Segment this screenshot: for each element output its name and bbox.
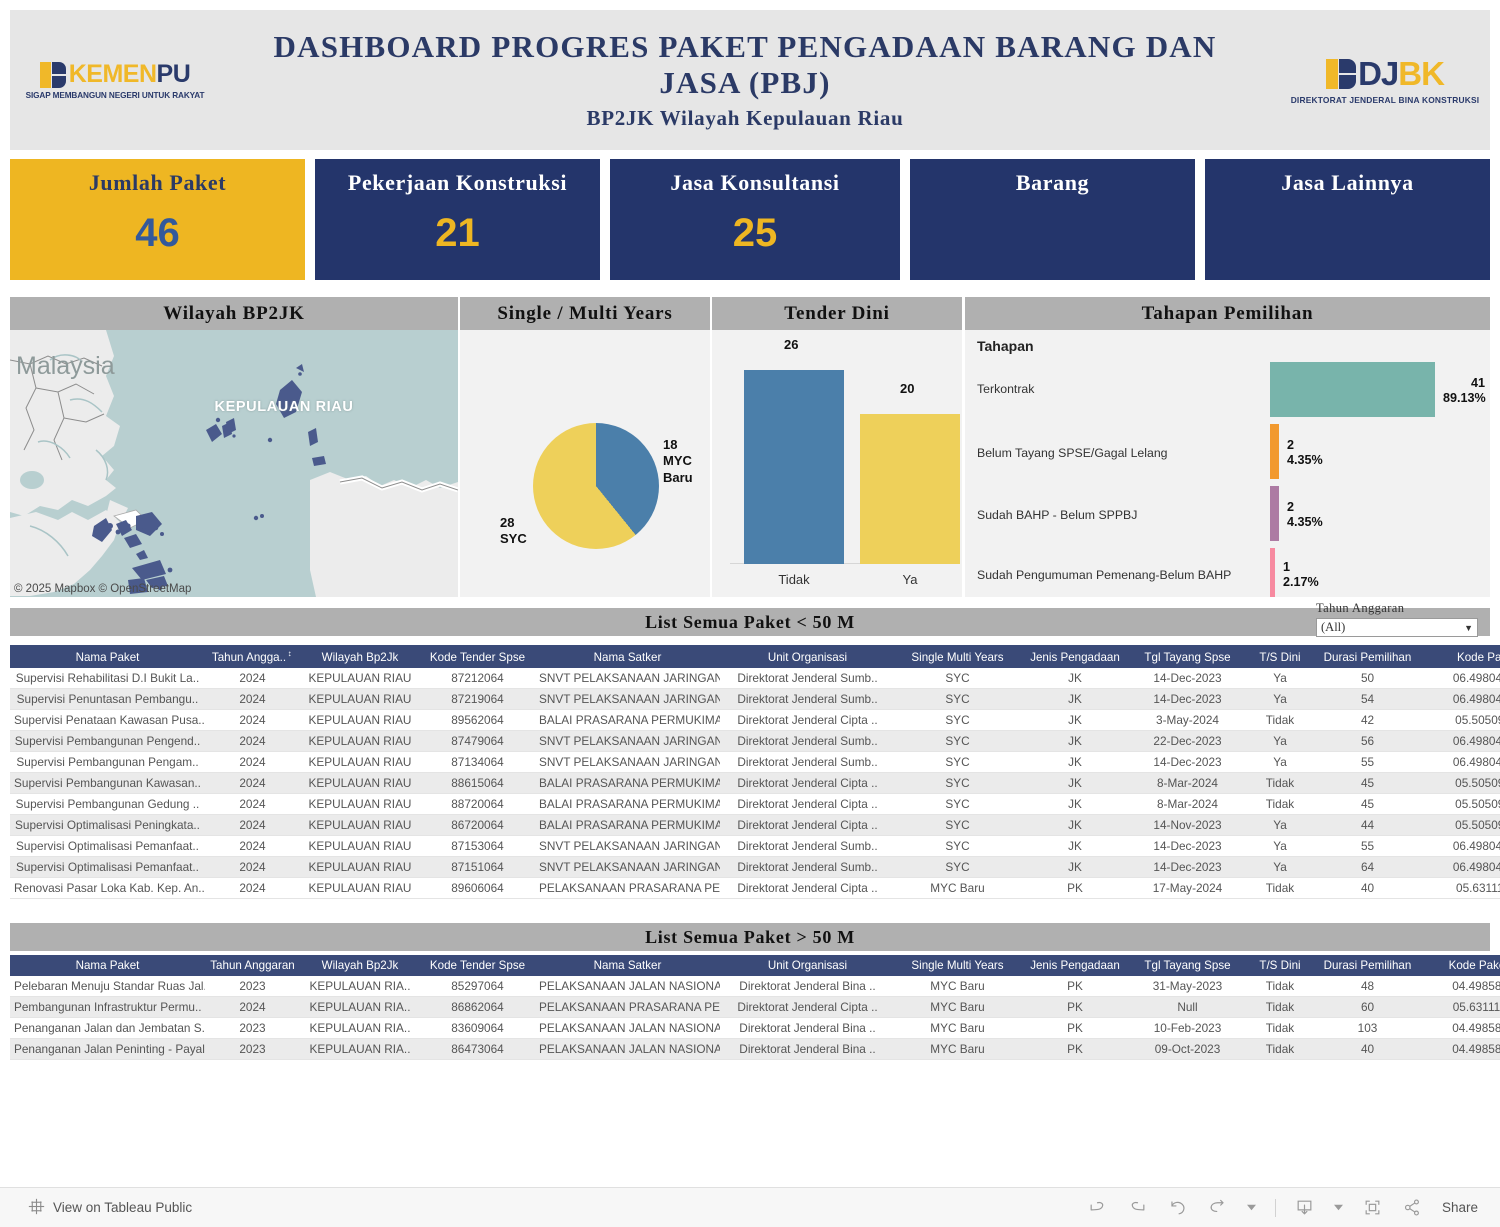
kpi-card-jumlah-paket[interactable]: Jumlah Paket 46 <box>10 159 305 280</box>
tahapan-bar[interactable] <box>1270 424 1279 479</box>
table-cell[interactable]: SYC <box>895 751 1020 772</box>
kpi-label: Pekerjaan Konstruksi <box>348 170 567 196</box>
toolbar-divider <box>1275 1199 1276 1217</box>
table-cell[interactable]: 05.505097.IA.4971 <box>1420 793 1500 814</box>
table-cell[interactable]: 10-Feb-2023 <box>1130 1018 1245 1039</box>
panel-body-map[interactable]: Malaysia KEPULAUAN RIAU © 2025 Mapbox © … <box>10 330 458 597</box>
table-cell[interactable]: MYC Baru <box>895 997 1020 1018</box>
table-cell[interactable]: KEPULAUAN RIAU <box>300 751 420 772</box>
table-cell[interactable]: SYC <box>895 668 1020 689</box>
table-cell[interactable]: 40 <box>1315 877 1420 898</box>
table-cell[interactable]: KEPULAUAN RIAU <box>300 688 420 709</box>
table-cell[interactable]: 2024 <box>205 709 300 730</box>
table-cell[interactable]: BALAI PRASARANA PERMUKIMA.. <box>535 709 720 730</box>
table-cell[interactable]: SNVT PELAKSANAAN JARINGAN .. <box>535 856 720 877</box>
table-cell[interactable]: JK <box>1020 688 1130 709</box>
kemenpu-tagline: SIGAP MEMBANGUN NEGERI UNTUK RAKYAT <box>26 91 205 100</box>
table-row[interactable]: Supervisi Pembangunan Pengend..2024KEPUL… <box>10 730 1500 751</box>
table-cell[interactable]: 86473064 <box>420 1039 535 1060</box>
table-cell[interactable]: 87134064 <box>420 751 535 772</box>
map-country-label: Malaysia <box>16 352 115 381</box>
djbk-word-a: DJ <box>1358 55 1398 92</box>
table-cell[interactable]: BALAI PRASARANA PERMUKIMA.. <box>535 793 720 814</box>
djbk-mark-icon <box>1326 59 1356 89</box>
table-cell[interactable]: 05.631115.IA.4971 <box>1420 877 1500 898</box>
table-cell[interactable]: PELAKSANAAN PRASARANA PER.. <box>535 997 720 1018</box>
filter-label: Tahun Anggaran <box>1316 601 1478 616</box>
djbk-tagline: DIREKTORAT JENDERAL BINA KONSTRUKSI <box>1291 95 1480 105</box>
table-cell[interactable]: Direktorat Jenderal Cipta .. <box>720 772 895 793</box>
table-cell[interactable]: Ya <box>1245 814 1315 835</box>
table-cell[interactable]: PK <box>1020 877 1130 898</box>
table-cell[interactable]: Supervisi Pembangunan Kawasan.. <box>10 772 205 793</box>
tahapan-bar[interactable] <box>1270 548 1275 597</box>
panel-header-map: Wilayah BP2JK <box>10 297 458 330</box>
table-cell[interactable]: 2024 <box>205 668 300 689</box>
table-cell[interactable]: Ya <box>1245 751 1315 772</box>
table-cell[interactable]: 87151064 <box>420 856 535 877</box>
table-cell[interactable]: Supervisi Penataan Kawasan Pusa.. <box>10 709 205 730</box>
kpi-card-pekerjaan-konstruksi[interactable]: Pekerjaan Konstruksi 21 <box>315 159 600 280</box>
table-cell[interactable]: Tidak <box>1245 1039 1315 1060</box>
table-cell[interactable]: BALAI PRASARANA PERMUKIMA.. <box>535 772 720 793</box>
table-column-header[interactable]: Nama Paket <box>10 955 205 976</box>
table-row[interactable]: Supervisi Optimalisasi Peningkata..2024K… <box>10 814 1500 835</box>
table-cell[interactable]: JK <box>1020 814 1130 835</box>
sort-indicator-icon[interactable]: ↕ <box>286 649 293 658</box>
table-cell[interactable]: 2023 <box>205 1039 300 1060</box>
table-cell[interactable]: SNVT PELAKSANAAN JARINGAN .. <box>535 835 720 856</box>
table-column-header[interactable]: Tahun Angga..↕ <box>205 645 300 668</box>
table-column-header[interactable]: Tahun Anggaran <box>205 955 300 976</box>
table-cell[interactable]: Direktorat Jenderal Cipta .. <box>720 877 895 898</box>
kemenpu-word-b: PU <box>157 60 191 88</box>
table-cell[interactable]: 22-Dec-2023 <box>1130 730 1245 751</box>
table-cell[interactable]: 2023 <box>205 976 300 997</box>
table-column-header[interactable]: Unit Organisasi <box>720 645 895 668</box>
table-cell[interactable]: SYC <box>895 709 1020 730</box>
download-icon[interactable] <box>1294 1197 1316 1219</box>
panel-body-pie[interactable]: 18 MYC Baru 28 SYC <box>460 330 710 597</box>
table-cell[interactable]: Supervisi Optimalisasi Peningkata.. <box>10 814 205 835</box>
table-cell[interactable]: PK <box>1020 1018 1130 1039</box>
table-cell[interactable]: 05.505097.IA.4971 <box>1420 772 1500 793</box>
table-row[interactable]: Supervisi Pembangunan Kawasan..2024KEPUL… <box>10 772 1500 793</box>
table-cell[interactable]: KEPULAUAN RIAU <box>300 814 420 835</box>
table-cell[interactable]: MYC Baru <box>895 1039 1020 1060</box>
tahapan-percent: 2.17% <box>1283 575 1319 590</box>
table-cell[interactable]: 45 <box>1315 772 1420 793</box>
table-cell[interactable]: 87212064 <box>420 668 535 689</box>
table-cell[interactable]: Renovasi Pasar Loka Kab. Kep. An.. <box>10 877 205 898</box>
table-cell[interactable]: 2024 <box>205 856 300 877</box>
table-cell[interactable]: SYC <box>895 772 1020 793</box>
table-cell[interactable]: Direktorat Jenderal Cipta .. <box>720 814 895 835</box>
table-column-header[interactable]: Wilayah Bp2Jk <box>300 645 420 668</box>
band-title: List Semua Paket > 50 M <box>645 927 855 948</box>
table-cell[interactable]: SYC <box>895 814 1020 835</box>
table-cell[interactable]: Tidak <box>1245 997 1315 1018</box>
table-cell[interactable]: SYC <box>895 688 1020 709</box>
table-cell[interactable]: 06.498047.FC.5040 <box>1420 835 1500 856</box>
table-cell[interactable]: KEPULAUAN RIAU <box>300 877 420 898</box>
tender-bar-value-tidak: 26 <box>784 337 798 352</box>
panel-single-multi-years: Single / Multi Years 18 MYC Baru 28 SYC <box>460 297 710 597</box>
kpi-card-jasa-konsultansi[interactable]: Jasa Konsultansi 25 <box>610 159 900 280</box>
table-cell[interactable]: SNVT PELAKSANAAN JARINGAN .. <box>535 730 720 751</box>
table-cell[interactable]: KEPULAUAN RIA.. <box>300 1018 420 1039</box>
table-cell[interactable]: 56 <box>1315 730 1420 751</box>
table-cell[interactable]: 3-May-2024 <box>1130 709 1245 730</box>
table-cell[interactable]: 2024 <box>205 772 300 793</box>
table-column-header[interactable]: Durasi Pemilihan <box>1315 645 1420 668</box>
chevron-down-icon[interactable]: ▼ <box>1464 623 1473 633</box>
table-cell[interactable]: 06.498046.FC.5037 <box>1420 751 1500 772</box>
table-column-header[interactable]: Single Multi Years <box>895 955 1020 976</box>
title-line-2: JASA (PBJ) <box>210 65 1280 101</box>
table-cell[interactable]: 14-Dec-2023 <box>1130 688 1245 709</box>
tahapan-label: Terkontrak <box>977 382 1034 396</box>
table-cell[interactable]: 05.505097.IA.4971 <box>1420 814 1500 835</box>
tender-bar-ya[interactable] <box>860 414 960 564</box>
table-cell[interactable]: Supervisi Pembangunan Pengam.. <box>10 751 205 772</box>
table-cell[interactable]: 64 <box>1315 856 1420 877</box>
table-cell[interactable]: 88720064 <box>420 793 535 814</box>
table-cell[interactable]: 14-Dec-2023 <box>1130 668 1245 689</box>
panel-body-tender[interactable]: 26 Tidak 20 Ya <box>712 297 962 597</box>
panel-tender-dini: Tender Dini 26 Tidak 20 Ya <box>712 297 962 597</box>
table-column-header[interactable]: Wilayah Bp2Jk <box>300 955 420 976</box>
table-cell[interactable]: PELAKSANAAN JALAN NASIONA.. <box>535 976 720 997</box>
kpi-label: Jasa Lainnya <box>1281 170 1414 196</box>
djbk-logo: DJBK DIREKTORAT JENDERAL BINA KONSTRUKSI <box>1280 10 1490 150</box>
table-cell[interactable]: 87479064 <box>420 730 535 751</box>
table-cell[interactable]: Supervisi Penuntasan Pembangu.. <box>10 688 205 709</box>
table-column-header[interactable]: Nama Satker <box>535 645 720 668</box>
table-row[interactable]: Supervisi Pembangunan Gedung ..2024KEPUL… <box>10 793 1500 814</box>
table-column-header[interactable]: Jenis Pengadaan <box>1020 645 1130 668</box>
table-cell[interactable]: 04.498585.GA.240.. <box>1420 976 1500 997</box>
table-cell[interactable]: MYC Baru <box>895 877 1020 898</box>
table-body[interactable]: Supervisi Rehabilitasi D.I Bukit La..202… <box>10 668 1500 899</box>
table-cell[interactable]: KEPULAUAN RIAU <box>300 835 420 856</box>
table-cell[interactable]: Supervisi Rehabilitasi D.I Bukit La.. <box>10 668 205 689</box>
view-on-tableau-public-button[interactable]: View on Tableau Public <box>28 1198 192 1218</box>
kpi-label: Barang <box>1016 170 1089 196</box>
redo-icon[interactable] <box>1127 1197 1149 1219</box>
table-cell[interactable]: Supervisi Optimalisasi Pemanfaat.. <box>10 856 205 877</box>
table-cell[interactable]: Pembangunan Infrastruktur Permu.. <box>10 997 205 1018</box>
table-row[interactable]: Penanganan Jalan dan Jembatan S..2023KEP… <box>10 1018 1500 1039</box>
table-cell[interactable]: Direktorat Jenderal Bina .. <box>720 1039 895 1060</box>
panel-header-pie: Single / Multi Years <box>460 297 710 330</box>
table-cell[interactable]: 89562064 <box>420 709 535 730</box>
table-cell[interactable]: Ya <box>1245 856 1315 877</box>
tahapan-percent: 4.35% <box>1287 515 1323 530</box>
table-cell[interactable]: JK <box>1020 668 1130 689</box>
table-body[interactable]: Pelebaran Menuju Standar Ruas Jal..2023K… <box>10 976 1500 1060</box>
table-cell[interactable]: Supervisi Optimalisasi Pemanfaat.. <box>10 835 205 856</box>
table-column-header[interactable]: Kode Tender Spse <box>420 645 535 668</box>
table-cell[interactable]: Direktorat Jenderal Bina .. <box>720 976 895 997</box>
table-cell[interactable]: Direktorat Jenderal Cipta .. <box>720 709 895 730</box>
table-cell[interactable]: Tidak <box>1245 772 1315 793</box>
table-cell[interactable]: MYC Baru <box>895 976 1020 997</box>
table-cell[interactable]: 2024 <box>205 730 300 751</box>
table-cell[interactable]: 14-Dec-2023 <box>1130 751 1245 772</box>
table-cell[interactable]: Direktorat Jenderal Bina .. <box>720 1018 895 1039</box>
panel-body-tahapan[interactable]: Tahapan Terkontrak 41 89.13% Belum Tayan… <box>965 330 1490 597</box>
tahapan-bar[interactable] <box>1270 362 1435 417</box>
table-paket-besar[interactable]: Nama PaketTahun AnggaranWilayah Bp2JkKod… <box>10 955 1500 1060</box>
dashboard-page: KEMENPU SIGAP MEMBANGUN NEGERI UNTUK RAK… <box>0 0 1500 1227</box>
charts-row: Wilayah BP2JK <box>10 297 1490 597</box>
table-cell[interactable]: Direktorat Jenderal Sumb.. <box>720 688 895 709</box>
table-cell[interactable]: 85297064 <box>420 976 535 997</box>
tahapan-label: Sudah BAHP - Belum SPPBJ <box>977 508 1137 522</box>
table-cell[interactable]: 86720064 <box>420 814 535 835</box>
table-cell[interactable]: KEPULAUAN RIA.. <box>300 1039 420 1060</box>
filter-select[interactable]: (All) ▼ <box>1316 618 1478 637</box>
table-cell[interactable]: 2024 <box>205 751 300 772</box>
table-cell[interactable]: 87153064 <box>420 835 535 856</box>
table-cell[interactable]: 89606064 <box>420 877 535 898</box>
share-icon[interactable] <box>1402 1197 1424 1219</box>
table-column-header[interactable]: Jenis Pengadaan <box>1020 955 1130 976</box>
table-cell[interactable]: 2024 <box>205 793 300 814</box>
table-cell[interactable]: 2024 <box>205 814 300 835</box>
table-column-header[interactable]: Unit Organisasi <box>720 955 895 976</box>
table-cell[interactable]: 14-Nov-2023 <box>1130 814 1245 835</box>
table-cell[interactable]: 2024 <box>205 835 300 856</box>
kemenpu-wordmark: KEMENPU <box>69 60 191 89</box>
table-row[interactable]: Renovasi Pasar Loka Kab. Kep. An..2024KE… <box>10 877 1500 898</box>
table-cell[interactable]: 88615064 <box>420 772 535 793</box>
tender-cat-ya: Ya <box>860 572 960 587</box>
download-dropdown-icon[interactable] <box>1334 1197 1344 1219</box>
table-cell[interactable]: Supervisi Pembangunan Gedung .. <box>10 793 205 814</box>
table-column-header[interactable]: Tgl Tayang Spse <box>1130 645 1245 668</box>
tender-bar-value-ya: 20 <box>900 381 914 396</box>
table-cell[interactable]: 17-May-2024 <box>1130 877 1245 898</box>
table-cell[interactable]: Penanganan Jalan Peninting - Payal.. <box>10 1039 205 1060</box>
kemenpu-logo-row: KEMENPU <box>40 60 191 89</box>
tahapan-value: 1 2.17% <box>1283 560 1319 591</box>
table-cell[interactable]: Ya <box>1245 668 1315 689</box>
table-head-tr: Nama PaketTahun AnggaranWilayah Bp2JkKod… <box>10 955 1500 976</box>
pie-name-syc: SYC <box>500 531 527 547</box>
table-cell[interactable]: Ya <box>1245 688 1315 709</box>
table-cell[interactable]: Ya <box>1245 835 1315 856</box>
table-cell[interactable]: 8-Mar-2024 <box>1130 772 1245 793</box>
map-canvas[interactable]: Malaysia KEPULAUAN RIAU © 2025 Mapbox © … <box>10 330 458 597</box>
table-cell[interactable]: JK <box>1020 730 1130 751</box>
table-cell[interactable]: 31-May-2023 <box>1130 976 1245 997</box>
tahapan-value: 41 89.13% <box>1443 376 1485 407</box>
table-column-header[interactable]: Kode Paket Anggaran <box>1420 955 1500 976</box>
table-row[interactable]: Supervisi Optimalisasi Pemanfaat..2024KE… <box>10 835 1500 856</box>
table-cell[interactable]: KEPULAUAN RIAU <box>300 709 420 730</box>
table-cell[interactable]: 50 <box>1315 668 1420 689</box>
djbk-wordmark: DJBK <box>1358 55 1444 93</box>
table-cell[interactable]: 06.498047.FC.5036 <box>1420 668 1500 689</box>
tahapan-count: 2 <box>1287 500 1323 515</box>
table-cell[interactable]: Direktorat Jenderal Sumb.. <box>720 730 895 751</box>
table-cell[interactable]: SYC <box>895 793 1020 814</box>
table-cell[interactable]: JK <box>1020 856 1130 877</box>
table-cell[interactable]: Ya <box>1245 730 1315 751</box>
table-cell[interactable]: 8-Mar-2024 <box>1130 793 1245 814</box>
table-cell[interactable]: JK <box>1020 772 1130 793</box>
table-column-header[interactable]: Nama Paket <box>10 645 205 668</box>
table-cell[interactable]: PK <box>1020 1039 1130 1060</box>
table-column-header[interactable]: Single Multi Years <box>895 645 1020 668</box>
table-cell[interactable]: Tidak <box>1245 877 1315 898</box>
band-list-paket-kecil: List Semua Paket < 50 M <box>10 608 1490 636</box>
table-column-header[interactable]: Nama Satker <box>535 955 720 976</box>
kpi-value: 25 <box>733 211 778 256</box>
table-cell[interactable]: JK <box>1020 835 1130 856</box>
table-cell[interactable]: 55 <box>1315 751 1420 772</box>
table-cell[interactable]: SYC <box>895 856 1020 877</box>
table-column-header[interactable]: Tgl Tayang Spse <box>1130 955 1245 976</box>
table-cell[interactable]: 09-Oct-2023 <box>1130 1039 1245 1060</box>
table-cell[interactable]: Tidak <box>1245 1018 1315 1039</box>
table-column-header[interactable]: T/S Dini <box>1245 645 1315 668</box>
table-cell[interactable]: 48 <box>1315 976 1420 997</box>
table-cell[interactable]: JK <box>1020 793 1130 814</box>
revert-icon[interactable] <box>1167 1197 1189 1219</box>
table-cell[interactable]: PK <box>1020 997 1130 1018</box>
table-cell[interactable]: Direktorat Jenderal Cipta .. <box>720 997 895 1018</box>
table-cell[interactable]: JK <box>1020 709 1130 730</box>
table-cell[interactable]: MYC Baru <box>895 1018 1020 1039</box>
table-cell[interactable]: PELAKSANAAN JALAN NASIONA.. <box>535 1039 720 1060</box>
table-row[interactable]: Supervisi Penuntasan Pembangu..2024KEPUL… <box>10 688 1500 709</box>
table-cell[interactable]: Direktorat Jenderal Sumb.. <box>720 856 895 877</box>
tender-bar-tidak[interactable] <box>744 370 844 564</box>
table-cell[interactable]: 2023 <box>205 1018 300 1039</box>
table-cell[interactable]: 86862064 <box>420 997 535 1018</box>
table-cell[interactable]: SNVT PELAKSANAAN JARINGAN .. <box>535 751 720 772</box>
table-cell[interactable]: Supervisi Pembangunan Pengend.. <box>10 730 205 751</box>
table-cell[interactable]: Tidak <box>1245 793 1315 814</box>
table-cell[interactable]: KEPULAUAN RIAU <box>300 793 420 814</box>
table-cell[interactable]: KEPULAUAN RIAU <box>300 772 420 793</box>
table-cell[interactable]: 06.498046.FC.5037 <box>1420 730 1500 751</box>
table-cell[interactable]: KEPULAUAN RIA.. <box>300 997 420 1018</box>
table-cell[interactable]: 14-Dec-2023 <box>1130 835 1245 856</box>
tahapan-value: 2 4.35% <box>1287 438 1323 469</box>
table-cell[interactable]: Direktorat Jenderal Sumb.. <box>720 835 895 856</box>
table-cell[interactable]: 55 <box>1315 835 1420 856</box>
table-cell[interactable]: Tidak <box>1245 709 1315 730</box>
table-cell[interactable]: 05.631115.IA.4971.. <box>1420 997 1500 1018</box>
table-cell[interactable]: KEPULAUAN RIAU <box>300 730 420 751</box>
table-cell[interactable]: Direktorat Jenderal Sumb.. <box>720 668 895 689</box>
table-row[interactable]: Supervisi Optimalisasi Pemanfaat..2024KE… <box>10 856 1500 877</box>
table-cell[interactable]: SYC <box>895 730 1020 751</box>
table-column-header[interactable]: Durasi Pemilihan <box>1315 955 1420 976</box>
pie-label-syc: 28 SYC <box>500 515 527 548</box>
table-cell[interactable]: Direktorat Jenderal Cipta .. <box>720 793 895 814</box>
table-row[interactable]: Supervisi Penataan Kawasan Pusa..2024KEP… <box>10 709 1500 730</box>
table-row[interactable]: Supervisi Rehabilitasi D.I Bukit La..202… <box>10 668 1500 689</box>
undo-icon[interactable] <box>1087 1197 1109 1219</box>
title-subtitle: BP2JK Wilayah Kepulauan Riau <box>210 106 1280 131</box>
table-cell[interactable]: SNVT PELAKSANAAN JARINGAN .. <box>535 668 720 689</box>
table-cell[interactable]: 04.498585.GA.240.. <box>1420 1018 1500 1039</box>
table-cell[interactable]: BALAI PRASARANA PERMUKIMA.. <box>535 814 720 835</box>
table-cell[interactable]: 83609064 <box>420 1018 535 1039</box>
table-cell[interactable]: SYC <box>895 835 1020 856</box>
table-row[interactable]: Pembangunan Infrastruktur Permu..2024KEP… <box>10 997 1500 1018</box>
table-row[interactable]: Supervisi Pembangunan Pengam..2024KEPULA… <box>10 751 1500 772</box>
table-cell[interactable]: Penanganan Jalan dan Jembatan S.. <box>10 1018 205 1039</box>
table-paket-kecil[interactable]: Nama PaketTahun Angga..↕Wilayah Bp2JkKod… <box>10 645 1500 899</box>
table-column-header[interactable]: Kode Paket Angga <box>1420 645 1500 668</box>
kpi-card-jasa-lainnya[interactable]: Jasa Lainnya <box>1205 159 1490 280</box>
refresh-icon[interactable] <box>1207 1197 1229 1219</box>
kpi-label: Jumlah Paket <box>89 170 226 196</box>
table-cell[interactable]: Tidak <box>1245 976 1315 997</box>
table-row[interactable]: Penanganan Jalan Peninting - Payal..2023… <box>10 1039 1500 1060</box>
toolbar-actions: Share <box>1087 1197 1478 1219</box>
table-cell[interactable]: 103 <box>1315 1018 1420 1039</box>
table-cell[interactable]: PK <box>1020 976 1130 997</box>
table-cell[interactable]: PELAKSANAAN PRASARANA PER.. <box>535 877 720 898</box>
table-cell[interactable]: 2024 <box>205 997 300 1018</box>
table-cell[interactable]: 54 <box>1315 688 1420 709</box>
table-cell[interactable]: JK <box>1020 751 1130 772</box>
table-cell[interactable]: 44 <box>1315 814 1420 835</box>
table-cell[interactable]: KEPULAUAN RIAU <box>300 856 420 877</box>
table-cell[interactable]: 2024 <box>205 688 300 709</box>
pie-chart[interactable] <box>533 423 659 549</box>
table-cell[interactable]: SNVT PELAKSANAAN JARINGAN .. <box>535 688 720 709</box>
table-cell[interactable]: 42 <box>1315 709 1420 730</box>
table-header-row: Nama PaketTahun Angga..↕Wilayah Bp2JkKod… <box>10 645 1500 668</box>
tahapan-row-belum-tayang: Belum Tayang SPSE/Gagal Lelang 2 4.35% <box>965 424 1490 480</box>
table-cell[interactable]: 60 <box>1315 997 1420 1018</box>
table-cell[interactable]: Pelebaran Menuju Standar Ruas Jal.. <box>10 976 205 997</box>
table-cell[interactable]: 2024 <box>205 877 300 898</box>
tahapan-bar[interactable] <box>1270 486 1279 541</box>
table-cell[interactable]: Null <box>1130 997 1245 1018</box>
table-column-header[interactable]: T/S Dini <box>1245 955 1315 976</box>
fullscreen-icon[interactable] <box>1362 1197 1384 1219</box>
table-cell[interactable]: 06.498047.FC.5040 <box>1420 856 1500 877</box>
table-cell[interactable]: 14-Dec-2023 <box>1130 856 1245 877</box>
tahun-anggaran-filter[interactable]: Tahun Anggaran (All) ▼ <box>1316 601 1478 637</box>
table-cell[interactable]: Direktorat Jenderal Sumb.. <box>720 751 895 772</box>
table-column-header[interactable]: Kode Tender Spse <box>420 955 535 976</box>
table-cell[interactable]: 06.498047.FC.5036 <box>1420 688 1500 709</box>
panel-wilayah-bp2jk: Wilayah BP2JK <box>10 297 458 597</box>
toolbar-dropdown-icon[interactable] <box>1247 1197 1257 1219</box>
table-cell[interactable]: 45 <box>1315 793 1420 814</box>
table-cell[interactable]: 05.505097.IA.4971 <box>1420 709 1500 730</box>
table-row[interactable]: Pelebaran Menuju Standar Ruas Jal..2023K… <box>10 976 1500 997</box>
table-cell[interactable]: PELAKSANAAN JALAN NASIONA.. <box>535 1018 720 1039</box>
kpi-card-barang[interactable]: Barang <box>910 159 1195 280</box>
table-cell[interactable]: 40 <box>1315 1039 1420 1060</box>
table-cell[interactable]: 04.498585.GA.240.. <box>1420 1039 1500 1060</box>
table-cell[interactable]: 87219064 <box>420 688 535 709</box>
table-cell[interactable]: KEPULAUAN RIAU <box>300 668 420 689</box>
tahapan-value: 2 4.35% <box>1287 500 1323 531</box>
table-cell[interactable]: KEPULAUAN RIA.. <box>300 976 420 997</box>
